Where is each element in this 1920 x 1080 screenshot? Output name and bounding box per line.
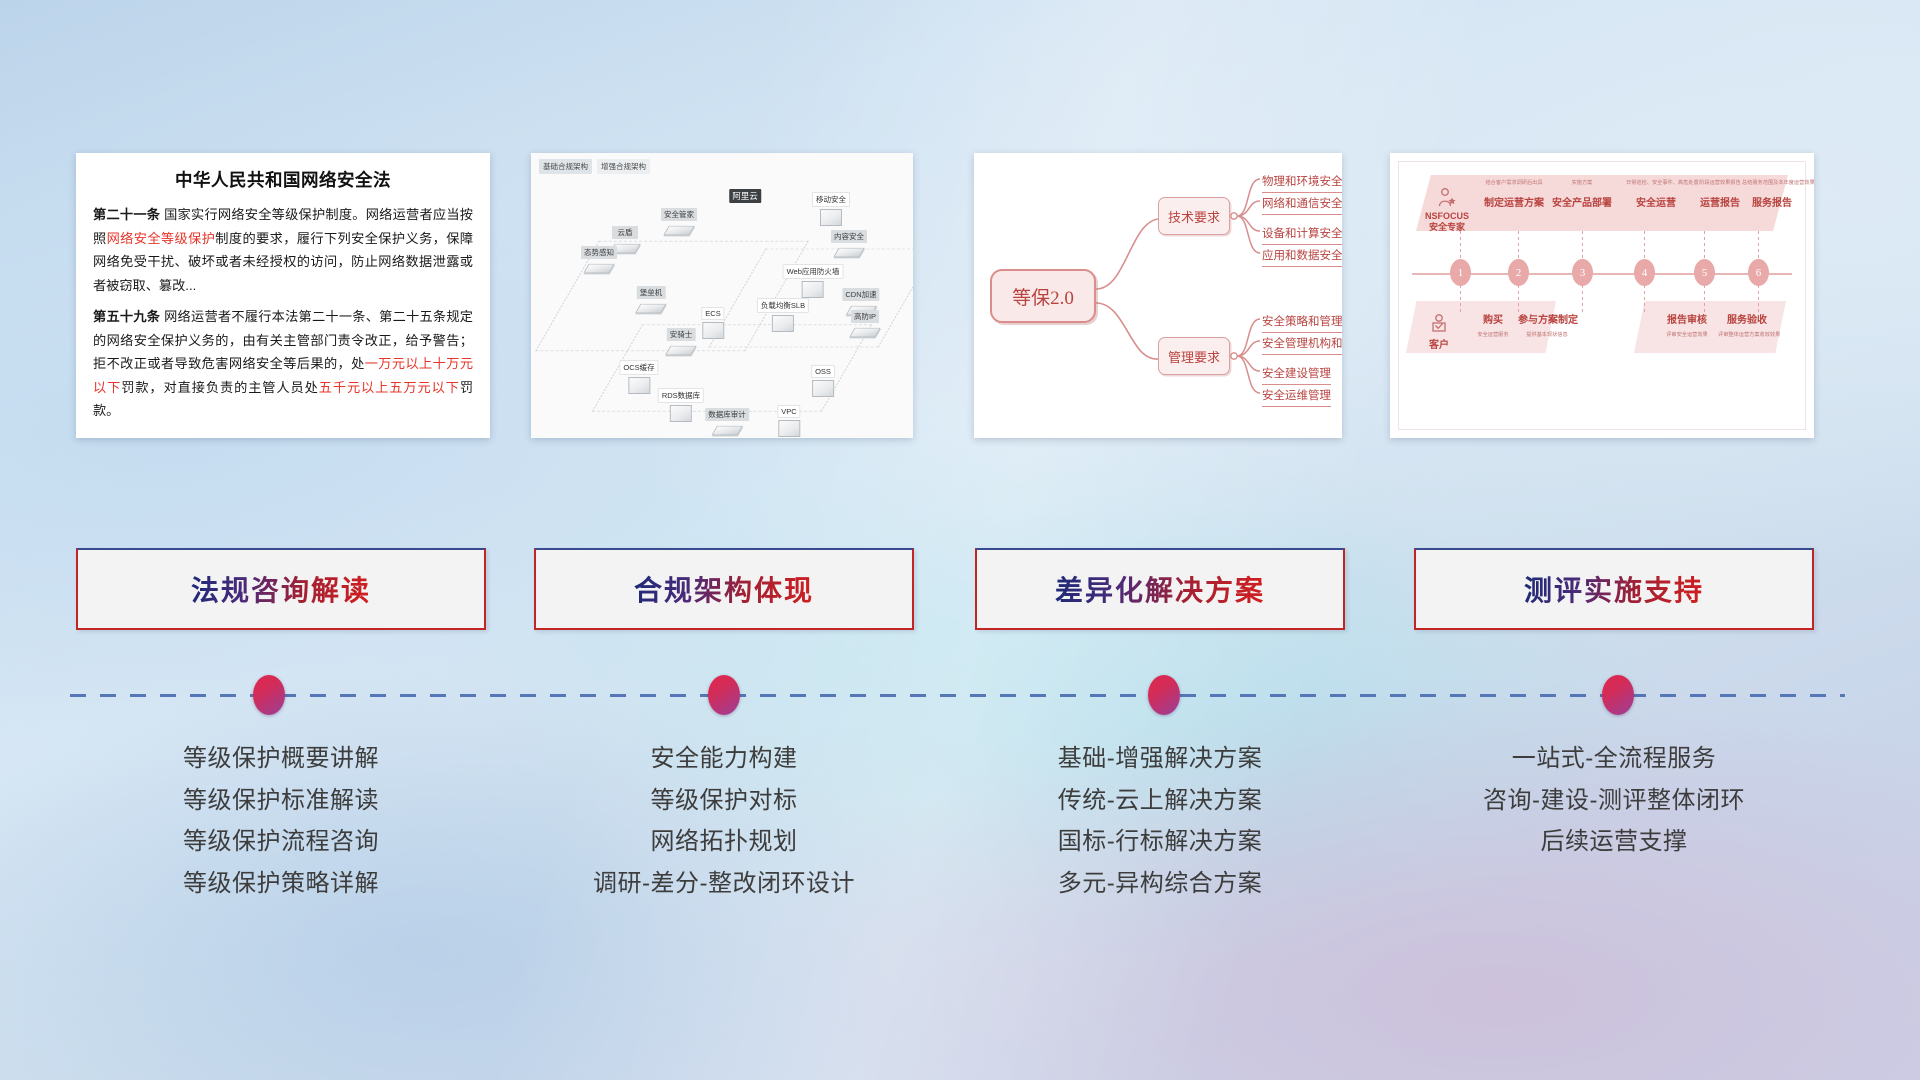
architecture-node-label: 态势感知 (581, 246, 617, 259)
mindmap-leaf[interactable]: 物理和环境安全 (1262, 173, 1342, 193)
flow-step-sub: 日常巡检、安全事件、高危处置 (1626, 179, 1686, 186)
architecture-node-label: 安骑士 (667, 328, 696, 341)
law-article-59-mid: 罚款，对直接负责的主管人员处 (121, 380, 319, 395)
card-service-flow[interactable]: NSFOCUS 安全专家 客户 结合客户需求调研后出具制定运营方案实施方案安全产… (1390, 153, 1814, 438)
architecture-node-glyph (802, 281, 824, 298)
architecture-node[interactable]: 内容安全 (831, 230, 867, 260)
list-item: 基础-增强解决方案 (975, 738, 1345, 780)
flow-step-main: 安全产品部署 (1552, 194, 1612, 209)
architecture-node[interactable]: OCS缓存 (619, 360, 658, 394)
tab-basic-architecture[interactable]: 基础合规架构 (539, 159, 592, 174)
law-content: 中华人民共和国网络安全法 第二十一条 国家实行网络安全等级保护制度。网络运营者应… (76, 153, 490, 438)
architecture-node-glyph (833, 248, 864, 257)
architecture-node-label: OSS (811, 365, 835, 378)
tab-enhanced-architecture[interactable]: 增强合规架构 (597, 159, 650, 174)
flow-tick (1704, 285, 1705, 313)
architecture-node-label: 堡垒机 (637, 286, 666, 299)
architecture-node[interactable]: Web应用防火墙 (783, 264, 844, 298)
customer-check-icon (1429, 313, 1449, 335)
flow-brand-line1: NSFOCUS (1414, 211, 1480, 222)
architecture-node[interactable]: 移动安全 (812, 192, 850, 226)
bullet-list-2: 安全能力构建等级保护对标网络拓扑规划调研-差分-整改闭环设计 (534, 738, 914, 904)
architecture-node[interactable]: 高防IP (851, 310, 879, 340)
architecture-node[interactable]: 数据库审计 (705, 408, 749, 438)
flow-customer-label: 客户 (1414, 336, 1464, 351)
list-item: 网络拓扑规划 (534, 821, 914, 863)
mindmap-branch-management[interactable]: 管理要求 (1158, 337, 1230, 375)
mindmap-leaf[interactable]: 设备和计算安全 (1262, 225, 1342, 245)
architecture-node[interactable]: 安全管家 (661, 208, 697, 238)
architecture-node-label: Web应用防火墙 (783, 264, 844, 279)
architecture-node-glyph (663, 226, 694, 235)
flow-step-sub: 提供基本现状信息 (1518, 331, 1576, 338)
timeline-dashed-line (70, 694, 1845, 697)
mindmap-canvas: 等保2.0 技术要求 管理要求 物理和环境安全网络和通信安全设备和计算安全应用和… (974, 153, 1342, 438)
card-mindmap[interactable]: 等保2.0 技术要求 管理要求 物理和环境安全网络和通信安全设备和计算安全应用和… (974, 153, 1342, 438)
architecture-node[interactable]: VPC (777, 405, 800, 437)
flow-step-number[interactable]: 4 (1634, 259, 1655, 286)
list-item: 咨询-建设-测评整体闭环 (1414, 780, 1814, 822)
law-article-21-label: 第二十一条 (93, 207, 160, 222)
flow-step-number[interactable]: 6 (1748, 259, 1769, 286)
flow-step-sub: 评审整体运营方案收效效果 (1718, 331, 1776, 338)
flow-tick (1518, 285, 1519, 313)
mindmap-leaf[interactable]: 安全运维管理 (1262, 387, 1331, 407)
list-item: 传统-云上解决方案 (975, 780, 1345, 822)
headline-label-3: 差异化解决方案 (1055, 569, 1265, 609)
mindmap-leaf[interactable]: 安全建设管理 (1262, 365, 1331, 385)
headline-label-1: 法规咨询解读 (191, 569, 371, 609)
flow-canvas: NSFOCUS 安全专家 客户 结合客户需求调研后出具制定运营方案实施方案安全产… (1390, 153, 1814, 438)
architecture-node[interactable]: RDS数据库 (658, 388, 704, 422)
flow-step-main: 购买 (1464, 311, 1522, 326)
architecture-node[interactable]: 负载均衡SLB (757, 298, 809, 332)
architecture-node-glyph (702, 322, 724, 339)
flow-step-customer[interactable]: 购买安全运营服务 (1464, 311, 1522, 338)
mindmap-root-node[interactable]: 等保2.0 (990, 269, 1096, 323)
flow-tick (1582, 231, 1583, 259)
architecture-node[interactable]: OSS (811, 365, 835, 397)
flow-step-sub: 阶段运营效果报告 (1690, 179, 1750, 186)
architecture-node[interactable]: ECS (701, 307, 724, 339)
architecture-node[interactable]: 阿里云 (729, 189, 761, 205)
list-item: 一站式-全流程服务 (1414, 738, 1814, 780)
flow-step-main: 参与方案制定 (1518, 311, 1576, 326)
bullet-list-4: 一站式-全流程服务咨询-建设-测评整体闭环后续运营支撑 (1414, 738, 1814, 863)
flow-step-provider[interactable]: 实施方案安全产品部署 (1552, 179, 1612, 209)
flow-step-sub: 安全运营服务 (1464, 331, 1522, 338)
timeline-dot-1[interactable] (253, 675, 285, 715)
architecture-tabs[interactable]: 基础合规架构 增强合规架构 (539, 159, 650, 174)
flow-step-customer[interactable]: 报告审核评审安全运营效果 (1658, 311, 1716, 338)
architecture-node-label: 高防IP (851, 310, 879, 323)
law-article-59-label: 第五十九条 (93, 309, 160, 324)
architecture-node-glyph (583, 264, 614, 273)
architecture-node-glyph (812, 380, 834, 397)
architecture-node-label: ECS (701, 307, 724, 320)
flow-step-sub: 结合客户需求调研后出具 (1484, 179, 1544, 186)
architecture-node-label: CDN加速 (842, 288, 879, 301)
list-item: 等级保护流程咨询 (76, 821, 486, 863)
architecture-node[interactable]: 堡垒机 (637, 286, 666, 316)
card-architecture-diagram[interactable]: 基础合规架构 增强合规架构 云盾安全管家态势感知堡垒机ECS安骑士OCS缓存RD… (531, 153, 913, 438)
flow-step-number[interactable]: 1 (1450, 259, 1471, 286)
flow-tick (1758, 285, 1759, 313)
flow-step-number[interactable]: 5 (1694, 259, 1715, 286)
flow-step-provider[interactable]: 总结服务范围及本年度运营效果服务报告 (1742, 179, 1802, 209)
flow-step-customer[interactable]: 服务验收评审整体运营方案收效效果 (1718, 311, 1776, 338)
flow-step-main: 报告审核 (1658, 311, 1716, 326)
bullet-list-3: 基础-增强解决方案传统-云上解决方案国标-行标解决方案多元-异构综合方案 (975, 738, 1345, 904)
mindmap-leaf[interactable]: 网络和通信安全 (1262, 195, 1342, 215)
flow-step-number[interactable]: 3 (1572, 259, 1593, 286)
architecture-node[interactable]: 态势感知 (581, 246, 617, 276)
flow-brand: NSFOCUS 安全专家 (1414, 187, 1480, 234)
headline-label-2: 合规架构体现 (634, 569, 814, 609)
flow-step-customer[interactable]: 参与方案制定提供基本现状信息 (1518, 311, 1576, 338)
flow-tick (1582, 285, 1583, 313)
architecture-node-label: 移动安全 (812, 192, 850, 207)
list-item: 等级保护概要讲解 (76, 738, 486, 780)
architecture-node-glyph (635, 304, 666, 313)
list-item: 国标-行标解决方案 (975, 821, 1345, 863)
architecture-node-glyph (665, 346, 696, 355)
flow-tick (1644, 285, 1645, 313)
architecture-node-label: 阿里云 (729, 189, 761, 203)
architecture-node-label: 安全管家 (661, 208, 697, 221)
flow-step-provider[interactable]: 结合客户需求调研后出具制定运营方案 (1484, 179, 1544, 209)
architecture-node-glyph (772, 315, 794, 332)
flow-step-main: 制定运营方案 (1484, 194, 1544, 209)
card-law-text[interactable]: 中华人民共和国网络安全法 第二十一条 国家实行网络安全等级保护制度。网络运营者应… (76, 153, 490, 438)
headline-box-2[interactable]: 合规架构体现 (534, 548, 914, 630)
mindmap-leaf[interactable]: 应用和数据安全 (1262, 247, 1342, 267)
list-item: 等级保护策略详解 (76, 863, 486, 905)
law-article-21: 第二十一条 国家实行网络安全等级保护制度。网络运营者应当按照网络安全等级保护制度… (93, 203, 473, 297)
flow-brand-line2: 安全专家 (1414, 222, 1480, 233)
flow-tick (1460, 231, 1461, 259)
architecture-node[interactable]: 安骑士 (667, 328, 696, 358)
architecture-node-label: 云盾 (612, 226, 638, 239)
flow-customer: 客户 (1414, 313, 1464, 351)
flow-tick (1644, 231, 1645, 259)
mindmap-leaf[interactable]: 安全管理机构和人员 (1262, 335, 1342, 355)
law-article-21-highlight: 网络安全等级保护 (107, 231, 216, 246)
flow-tick (1758, 231, 1759, 259)
flow-tick (1704, 231, 1705, 259)
flow-step-sub: 实施方案 (1552, 179, 1612, 186)
flow-tick (1460, 285, 1461, 313)
mindmap-leaf[interactable]: 安全策略和管理制度 (1262, 313, 1342, 333)
mindmap-branch-technical[interactable]: 技术要求 (1158, 197, 1230, 235)
law-title: 中华人民共和国网络安全法 (93, 167, 473, 192)
slide-stage: 中华人民共和国网络安全法 第二十一条 国家实行网络安全等级保护制度。网络运营者应… (0, 0, 1920, 1080)
architecture-node-glyph (670, 405, 692, 422)
architecture-node-glyph (778, 420, 800, 437)
timeline-dot-3[interactable] (1148, 675, 1180, 715)
list-item: 后续运营支撑 (1414, 821, 1814, 863)
timeline-dot-2[interactable] (708, 675, 740, 715)
bullet-list-1: 等级保护概要讲解等级保护标准解读等级保护流程咨询等级保护策略详解 (76, 738, 486, 904)
architecture-node-glyph (820, 209, 842, 226)
flow-step-number[interactable]: 2 (1508, 259, 1529, 286)
flow-step-main: 服务报告 (1742, 194, 1802, 209)
list-item: 等级保护对标 (534, 780, 914, 822)
flow-step-provider[interactable]: 日常巡检、安全事件、高危处置安全运营 (1626, 179, 1686, 209)
architecture-node-label: RDS数据库 (658, 388, 704, 403)
architecture-node-label: 内容安全 (831, 230, 867, 243)
flow-tick (1518, 231, 1519, 259)
list-item: 调研-差分-整改闭环设计 (534, 863, 914, 905)
headline-box-1[interactable]: 法规咨询解读 (76, 548, 486, 630)
law-article-59: 第五十九条 网络运营者不履行本法第二十一条、第二十五条规定的网络安全保护义务的，… (93, 305, 473, 423)
flow-step-main: 安全运营 (1626, 194, 1686, 209)
architecture-node-label: OCS缓存 (619, 360, 658, 375)
architecture-node-label: 数据库审计 (705, 408, 749, 421)
law-article-59-highlight-2: 五千元以上五万元以下 (319, 380, 460, 395)
flow-step-sub: 评审安全运营效果 (1658, 331, 1716, 338)
headline-label-4: 测评实施支持 (1524, 569, 1704, 609)
architecture-node-glyph (628, 377, 650, 394)
flow-step-main: 服务验收 (1718, 311, 1776, 326)
timeline-dot-4[interactable] (1602, 675, 1634, 715)
flow-step-provider[interactable]: 阶段运营效果报告运营报告 (1690, 179, 1750, 209)
flow-step-main: 运营报告 (1690, 194, 1750, 209)
headline-box-3[interactable]: 差异化解决方案 (975, 548, 1345, 630)
architecture-node-glyph (711, 426, 742, 435)
list-item: 安全能力构建 (534, 738, 914, 780)
architecture-node-label: VPC (777, 405, 800, 418)
list-item: 等级保护标准解读 (76, 780, 486, 822)
person-star-icon (1436, 187, 1458, 209)
headline-box-4[interactable]: 测评实施支持 (1414, 548, 1814, 630)
architecture-canvas: 基础合规架构 增强合规架构 云盾安全管家态势感知堡垒机ECS安骑士OCS缓存RD… (531, 153, 913, 438)
flow-step-sub: 总结服务范围及本年度运营效果 (1742, 179, 1802, 186)
architecture-node-label: 负载均衡SLB (757, 298, 809, 313)
architecture-node-glyph (849, 328, 880, 337)
list-item: 多元-异构综合方案 (975, 863, 1345, 905)
